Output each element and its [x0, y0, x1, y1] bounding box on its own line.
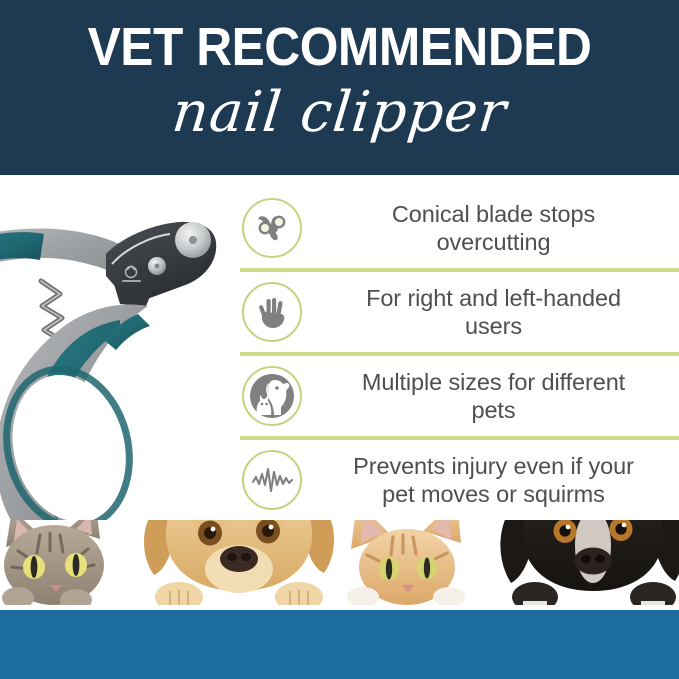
open-hand-icon	[242, 282, 302, 342]
pets-banner	[0, 520, 679, 679]
feature-row: Prevents injury even if your pet moves o…	[236, 438, 679, 522]
feature-text-line: Multiple sizes for different	[314, 368, 673, 396]
feature-text: Prevents injury even if your pet moves o…	[312, 452, 679, 508]
feature-list: Conical blade stops overcutting	[236, 186, 679, 524]
pet-photo-orange-cat	[337, 520, 477, 610]
page-subtitle: nail clipper	[0, 78, 679, 148]
pet-photo-black-white-dog	[493, 520, 679, 610]
clipper-upper-teal	[0, 232, 44, 268]
feature-text-line: users	[314, 312, 673, 340]
product-infographic: VET RECOMMENDED nail clipper	[0, 0, 679, 679]
feature-text-line: overcutting	[314, 228, 673, 256]
product-image	[0, 180, 238, 552]
feature-text-line: Conical blade stops	[314, 200, 673, 228]
clipper-screw-large-center	[189, 236, 197, 244]
feature-text-line: Prevents injury even if your	[314, 452, 673, 480]
feature-text: Multiple sizes for different pets	[312, 368, 679, 424]
feature-text: For right and left-handed users	[312, 284, 679, 340]
dog-and-cat-icon	[242, 366, 302, 426]
pet-photo-tabby-cat	[0, 520, 128, 610]
page-title: VET RECOMMENDED	[27, 18, 652, 76]
clipper-screw-small-center	[155, 264, 160, 269]
feature-text-line: pets	[314, 396, 673, 424]
pet-photo-golden-retriever	[134, 520, 344, 610]
feature-text-line: pet moves or squirms	[314, 480, 673, 508]
header-band: VET RECOMMENDED nail clipper	[0, 0, 679, 175]
feature-row: Conical blade stops overcutting	[236, 186, 679, 270]
feature-row: Multiple sizes for different pets	[236, 354, 679, 438]
blue-banner	[0, 610, 679, 679]
waveform-icon	[242, 450, 302, 510]
feature-text-line: For right and left-handed	[314, 284, 673, 312]
feature-row: For right and left-handed users	[236, 270, 679, 354]
nail-clipper-icon	[242, 198, 302, 258]
nail-clipper-illustration	[0, 180, 238, 552]
feature-text: Conical blade stops overcutting	[312, 200, 679, 256]
